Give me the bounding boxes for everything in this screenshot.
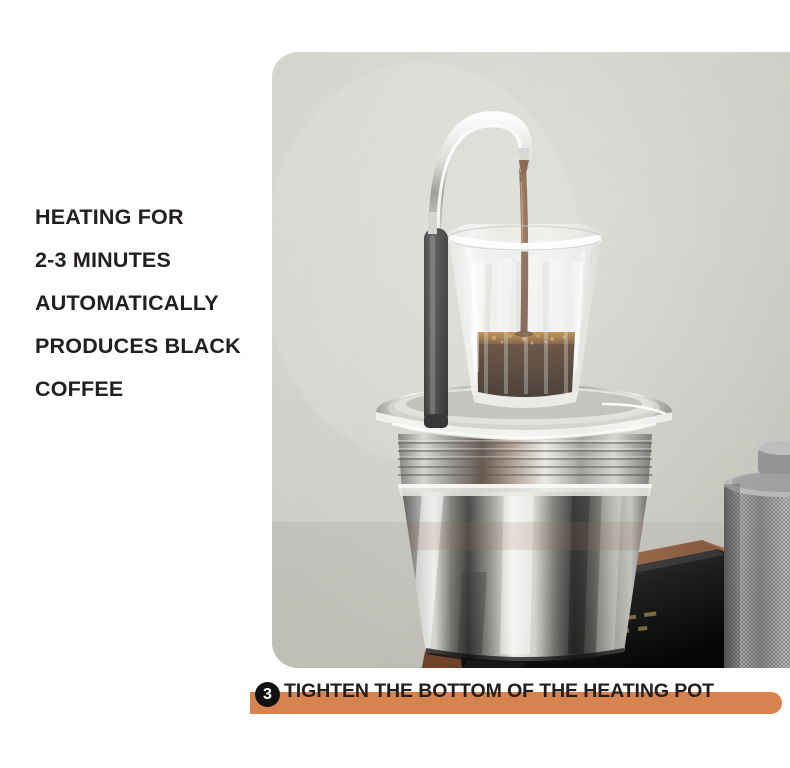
- promo-line: HEATING FOR: [35, 196, 265, 239]
- promo-line: AUTOMATICALLY: [35, 282, 265, 325]
- product-photo: [272, 52, 790, 668]
- promo-line: PRODUCES BLACK: [35, 325, 265, 368]
- promo-line: COFFEE: [35, 368, 265, 411]
- step-number-badge: 3: [255, 682, 280, 707]
- caption-label: TIGHTEN THE BOTTOM OF THE HEATING POT: [284, 679, 784, 703]
- promo-line: 2-3 MINUTES: [35, 239, 265, 282]
- promo-text-block: HEATING FOR 2-3 MINUTES AUTOMATICALLY PR…: [35, 196, 265, 411]
- product-photo-illustration: [272, 52, 790, 668]
